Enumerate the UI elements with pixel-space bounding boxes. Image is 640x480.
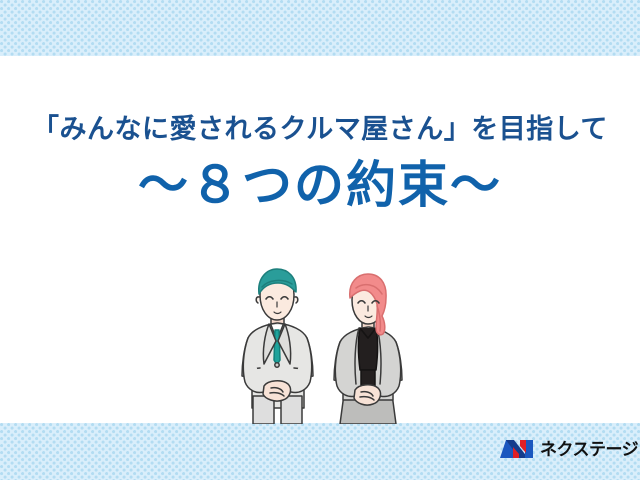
nexstage-logo: ネクステージ xyxy=(500,438,638,462)
male-staff-figure xyxy=(242,269,313,424)
headline-block: 「みんなに愛されるクルマ屋さん」を目指して ～８つの約束～ xyxy=(0,112,640,214)
top-dotted-band xyxy=(0,0,640,56)
promo-banner: 「みんなに愛されるクルマ屋さん」を目指して ～８つの約束～ xyxy=(0,0,640,480)
female-staff-figure xyxy=(334,274,402,424)
two-staff-illustration xyxy=(238,268,416,424)
nexstage-n-logo-icon xyxy=(500,438,534,462)
headline-line-1: 「みんなに愛されるクルマ屋さん」を目指して xyxy=(0,112,640,146)
headline-line-2: ～８つの約束～ xyxy=(0,156,640,214)
nexstage-logo-text: ネクステージ xyxy=(540,440,638,460)
